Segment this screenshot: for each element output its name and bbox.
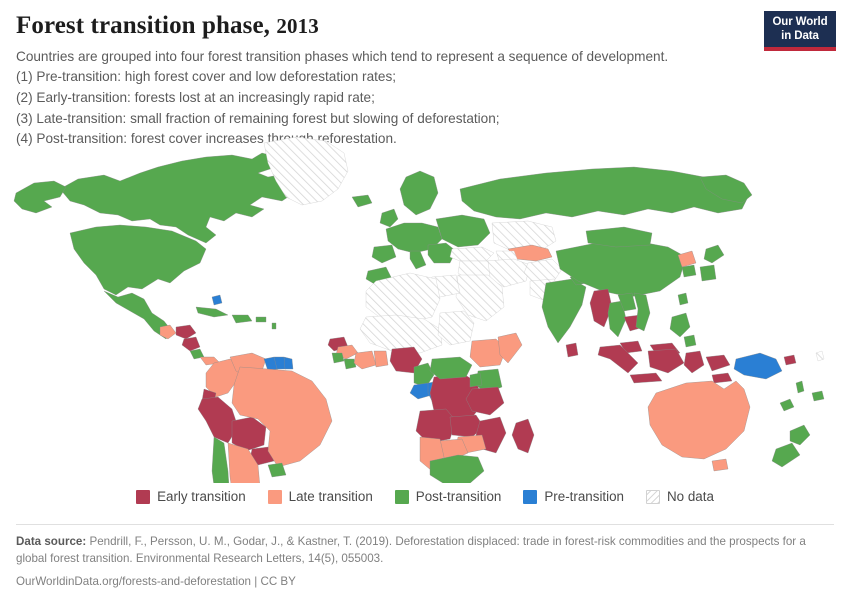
region-japan[interactable] xyxy=(700,245,724,281)
legend-item-early[interactable]: Early transition xyxy=(136,489,246,504)
region-myanmar[interactable] xyxy=(590,289,612,327)
region-sudan[interactable] xyxy=(438,311,474,345)
map-legend: Early transition Late transition Post-tr… xyxy=(0,489,850,504)
region-puerto-rico[interactable] xyxy=(256,317,266,322)
region-guatemala[interactable] xyxy=(160,325,176,339)
owid-logo-line2: in Data xyxy=(766,30,834,44)
title-year: 2013 xyxy=(276,14,318,38)
region-french-guiana[interactable] xyxy=(284,357,293,369)
region-madagascar[interactable] xyxy=(512,419,534,453)
region-alaska[interactable] xyxy=(14,181,66,213)
subtitle-line-1: (1) Pre-transition: high forest cover an… xyxy=(16,67,751,88)
world-map-svg[interactable] xyxy=(0,131,850,483)
region-iceland[interactable] xyxy=(352,195,372,207)
region-indonesia-east[interactable] xyxy=(706,355,732,383)
region-uganda[interactable] xyxy=(470,373,482,387)
region-iberia[interactable] xyxy=(372,245,396,263)
legend-item-pre[interactable]: Pre-transition xyxy=(523,489,624,504)
region-sri-lanka[interactable] xyxy=(566,343,578,357)
region-bahamas[interactable] xyxy=(212,295,222,305)
region-turkey[interactable] xyxy=(450,247,494,261)
region-liberia[interactable] xyxy=(344,359,356,369)
region-png-east-islands[interactable] xyxy=(784,355,796,365)
region-tasmania[interactable] xyxy=(712,459,728,471)
region-papua-new-guinea[interactable] xyxy=(734,353,782,379)
region-mongolia[interactable] xyxy=(586,227,652,247)
region-south-korea[interactable] xyxy=(682,265,696,277)
region-ivory-coast[interactable] xyxy=(354,351,376,369)
region-scandinavia[interactable] xyxy=(400,171,438,215)
subtitle-line-3: (3) Late-transition: small fraction of r… xyxy=(16,109,751,130)
license-line[interactable]: OurWorldinData.org/forests-and-deforesta… xyxy=(16,575,816,588)
legend-swatch-pre-icon xyxy=(523,490,537,504)
region-fiji[interactable] xyxy=(812,391,824,401)
title-text: Forest transition phase, xyxy=(16,12,270,39)
page-title: Forest transition phase, 2013 xyxy=(16,12,834,41)
region-british-isles[interactable] xyxy=(380,209,398,227)
region-hispaniola[interactable] xyxy=(232,315,252,323)
data-source-label: Data source: xyxy=(16,535,86,548)
footer-divider xyxy=(16,524,834,525)
region-new-zealand[interactable] xyxy=(772,425,810,467)
region-new-caledonia[interactable] xyxy=(780,399,794,411)
region-indonesia-sulawesi[interactable] xyxy=(684,351,704,373)
owid-logo-line1: Our World xyxy=(766,16,834,30)
legend-swatch-no-data-icon xyxy=(646,490,660,504)
region-lesser-antilles[interactable] xyxy=(272,323,276,329)
region-indonesia-java[interactable] xyxy=(630,373,662,383)
region-ghana[interactable] xyxy=(374,351,388,367)
region-russia[interactable] xyxy=(460,167,748,219)
legend-swatch-late-icon xyxy=(268,490,282,504)
legend-label-no-data: No data xyxy=(667,489,714,504)
chart-header: Forest transition phase, 2013 Countries … xyxy=(0,0,850,150)
legend-label-post: Post-transition xyxy=(416,489,502,504)
legend-label-late: Late transition xyxy=(289,489,373,504)
data-source-line: Data source: Pendrill, F., Persson, U. M… xyxy=(16,533,806,567)
world-map[interactable] xyxy=(0,131,850,483)
region-vietnam[interactable] xyxy=(634,293,650,331)
region-eastern-europe[interactable] xyxy=(436,215,490,247)
region-india[interactable] xyxy=(542,279,586,343)
region-sahel[interactable] xyxy=(360,315,442,353)
region-nicaragua[interactable] xyxy=(182,337,200,351)
legend-item-post[interactable]: Post-transition xyxy=(395,489,502,504)
legend-swatch-early-icon xyxy=(136,490,150,504)
owid-logo[interactable]: Our World in Data xyxy=(764,11,836,51)
legend-label-early: Early transition xyxy=(157,489,246,504)
region-central-african-republic[interactable] xyxy=(430,357,472,379)
region-south-africa[interactable] xyxy=(430,455,484,483)
legend-item-no-data[interactable]: No data xyxy=(646,489,714,504)
region-honduras[interactable] xyxy=(176,325,196,339)
region-vanuatu[interactable] xyxy=(796,381,804,393)
region-italy[interactable] xyxy=(410,251,426,269)
legend-item-late[interactable]: Late transition xyxy=(268,489,373,504)
subtitle-line-2: (2) Early-transition: forests lost at an… xyxy=(16,88,751,109)
region-taiwan[interactable] xyxy=(678,293,688,305)
region-philippines[interactable] xyxy=(670,313,696,347)
region-united-states[interactable] xyxy=(70,225,206,295)
data-source-text: Pendrill, F., Persson, U. M., Godar, J.,… xyxy=(16,535,806,565)
legend-swatch-post-icon xyxy=(395,490,409,504)
region-sierra-leone[interactable] xyxy=(332,353,344,363)
legend-label-pre: Pre-transition xyxy=(544,489,624,504)
subtitle-line-0: Countries are grouped into four forest t… xyxy=(16,47,751,68)
chart-footer: Data source: Pendrill, F., Persson, U. M… xyxy=(16,533,816,588)
region-afghanistan[interactable] xyxy=(524,259,562,281)
region-cuba[interactable] xyxy=(196,307,228,317)
region-australia[interactable] xyxy=(648,381,750,459)
region-pacific-islands[interactable] xyxy=(816,351,824,361)
